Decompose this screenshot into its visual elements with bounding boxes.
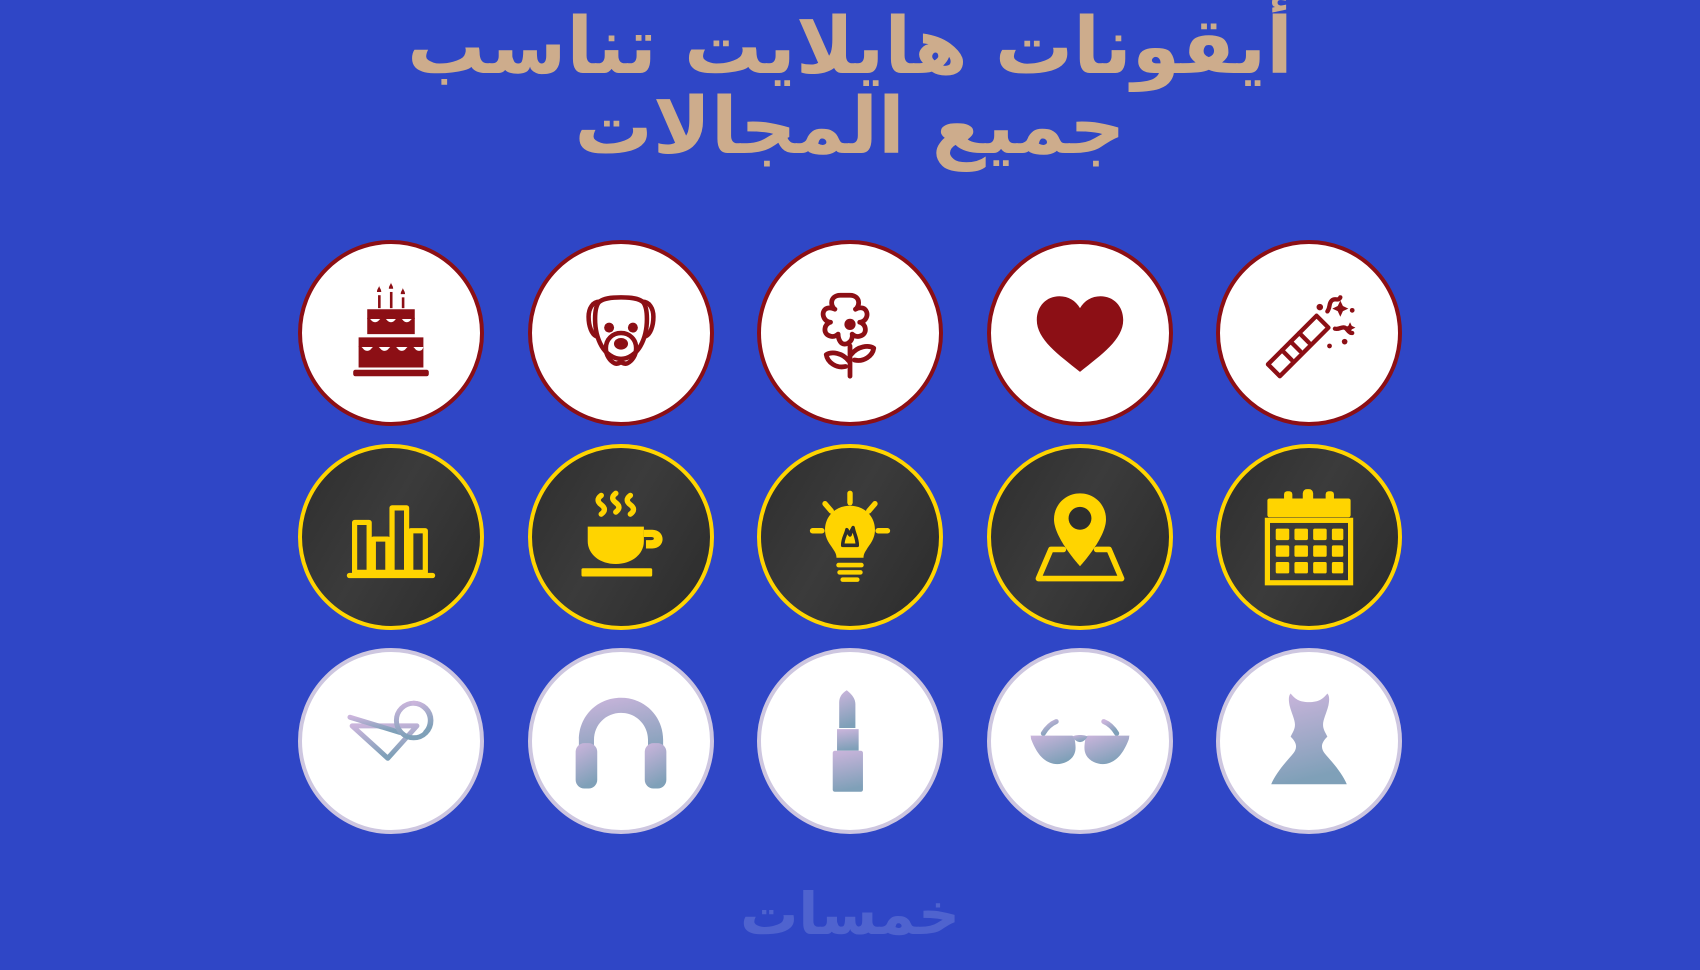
icon-circle-dress[interactable]: [1216, 648, 1402, 834]
cocktail-glass-icon: [337, 687, 445, 795]
title-line-2: جميع المجالات: [0, 88, 1700, 168]
coffee-cup-icon: [569, 485, 673, 589]
icon-circle-bar-chart[interactable]: [298, 444, 484, 630]
dress-icon: [1255, 687, 1363, 795]
headphones-icon: [567, 687, 675, 795]
icon-circle-location-pin[interactable]: [987, 444, 1173, 630]
party-popper-icon: [1255, 279, 1363, 387]
flower-icon: [796, 279, 904, 387]
watermark: خمسات: [0, 880, 1700, 948]
icon-circle-birthday-cake[interactable]: [298, 240, 484, 426]
page-title: أيقونات هايلايت تناسب جميع المجالات: [0, 8, 1700, 167]
icon-circle-lightbulb[interactable]: [757, 444, 943, 630]
bar-chart-icon: [339, 485, 443, 589]
lipstick-icon: [796, 687, 904, 795]
title-line-1: أيقونات هايلايت تناسب: [0, 8, 1700, 88]
icon-row-pastel: [298, 648, 1402, 834]
dog-face-icon: [567, 279, 675, 387]
icon-circle-calendar[interactable]: [1216, 444, 1402, 630]
icon-circle-headphones[interactable]: [528, 648, 714, 834]
watermark-text: خمسات: [740, 880, 960, 948]
icon-circle-party-popper[interactable]: [1216, 240, 1402, 426]
icon-circle-cocktail[interactable]: [298, 648, 484, 834]
lightbulb-icon: [798, 485, 902, 589]
birthday-cake-icon: [337, 279, 445, 387]
sunglasses-icon: [1026, 687, 1134, 795]
icon-grid: [298, 240, 1402, 834]
heart-icon: [1026, 279, 1134, 387]
poster-canvas: أيقونات هايلايت تناسب جميع المجالات: [0, 0, 1700, 970]
icon-circle-sunglasses[interactable]: [987, 648, 1173, 834]
icon-circle-lipstick[interactable]: [757, 648, 943, 834]
icon-circle-coffee-cup[interactable]: [528, 444, 714, 630]
icon-circle-flower[interactable]: [757, 240, 943, 426]
icon-circle-dog[interactable]: [528, 240, 714, 426]
icon-row-red: [298, 240, 1402, 426]
icon-circle-heart[interactable]: [987, 240, 1173, 426]
location-pin-icon: [1028, 485, 1132, 589]
calendar-icon: [1257, 485, 1361, 589]
icon-row-dark: [298, 444, 1402, 630]
